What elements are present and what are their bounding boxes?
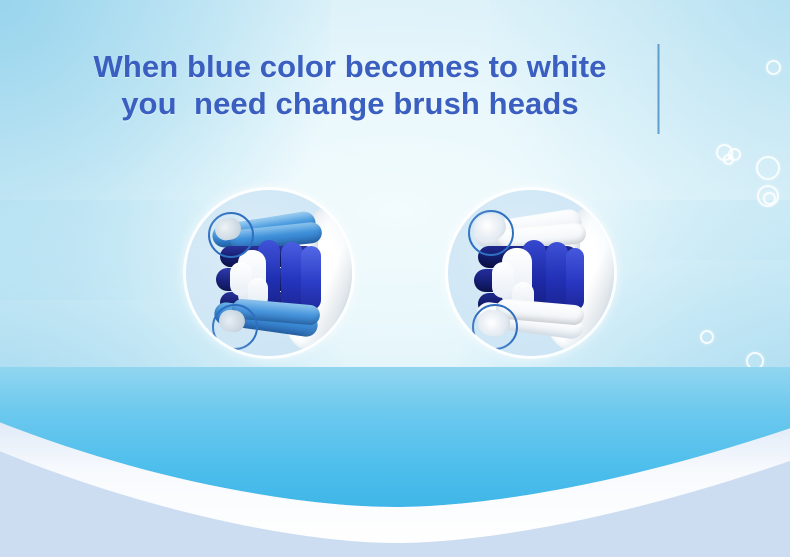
bubble-icon <box>766 60 781 75</box>
bristle-tuft-blue <box>566 248 584 310</box>
product-photo-brush-head-worn <box>448 190 614 356</box>
bubble-icon <box>756 156 780 180</box>
annotation-ring-bottom <box>212 304 258 350</box>
bottom-wave-decoration <box>0 367 790 557</box>
bottom-wave-svg <box>0 367 790 557</box>
page-title: When blue color becomes to white you nee… <box>0 48 700 122</box>
bubble-icon <box>700 330 714 344</box>
bubble-icon <box>723 154 734 165</box>
brush-head-illustration-worn <box>448 190 614 356</box>
bristle-tuft-white <box>492 262 514 298</box>
annotation-ring-bottom <box>472 304 518 350</box>
product-photo-brush-head-new <box>186 190 352 356</box>
brush-head-illustration-new <box>186 190 352 356</box>
annotation-ring-top <box>208 212 254 258</box>
promo-banner: When blue color becomes to white you nee… <box>0 0 790 557</box>
headline-line-2: you need change brush heads <box>121 86 579 121</box>
bristle-tuft-blue <box>301 246 321 310</box>
annotation-ring-top <box>468 210 514 256</box>
bubble-icon <box>763 192 776 205</box>
headline-line-1: When blue color becomes to white <box>93 49 606 84</box>
